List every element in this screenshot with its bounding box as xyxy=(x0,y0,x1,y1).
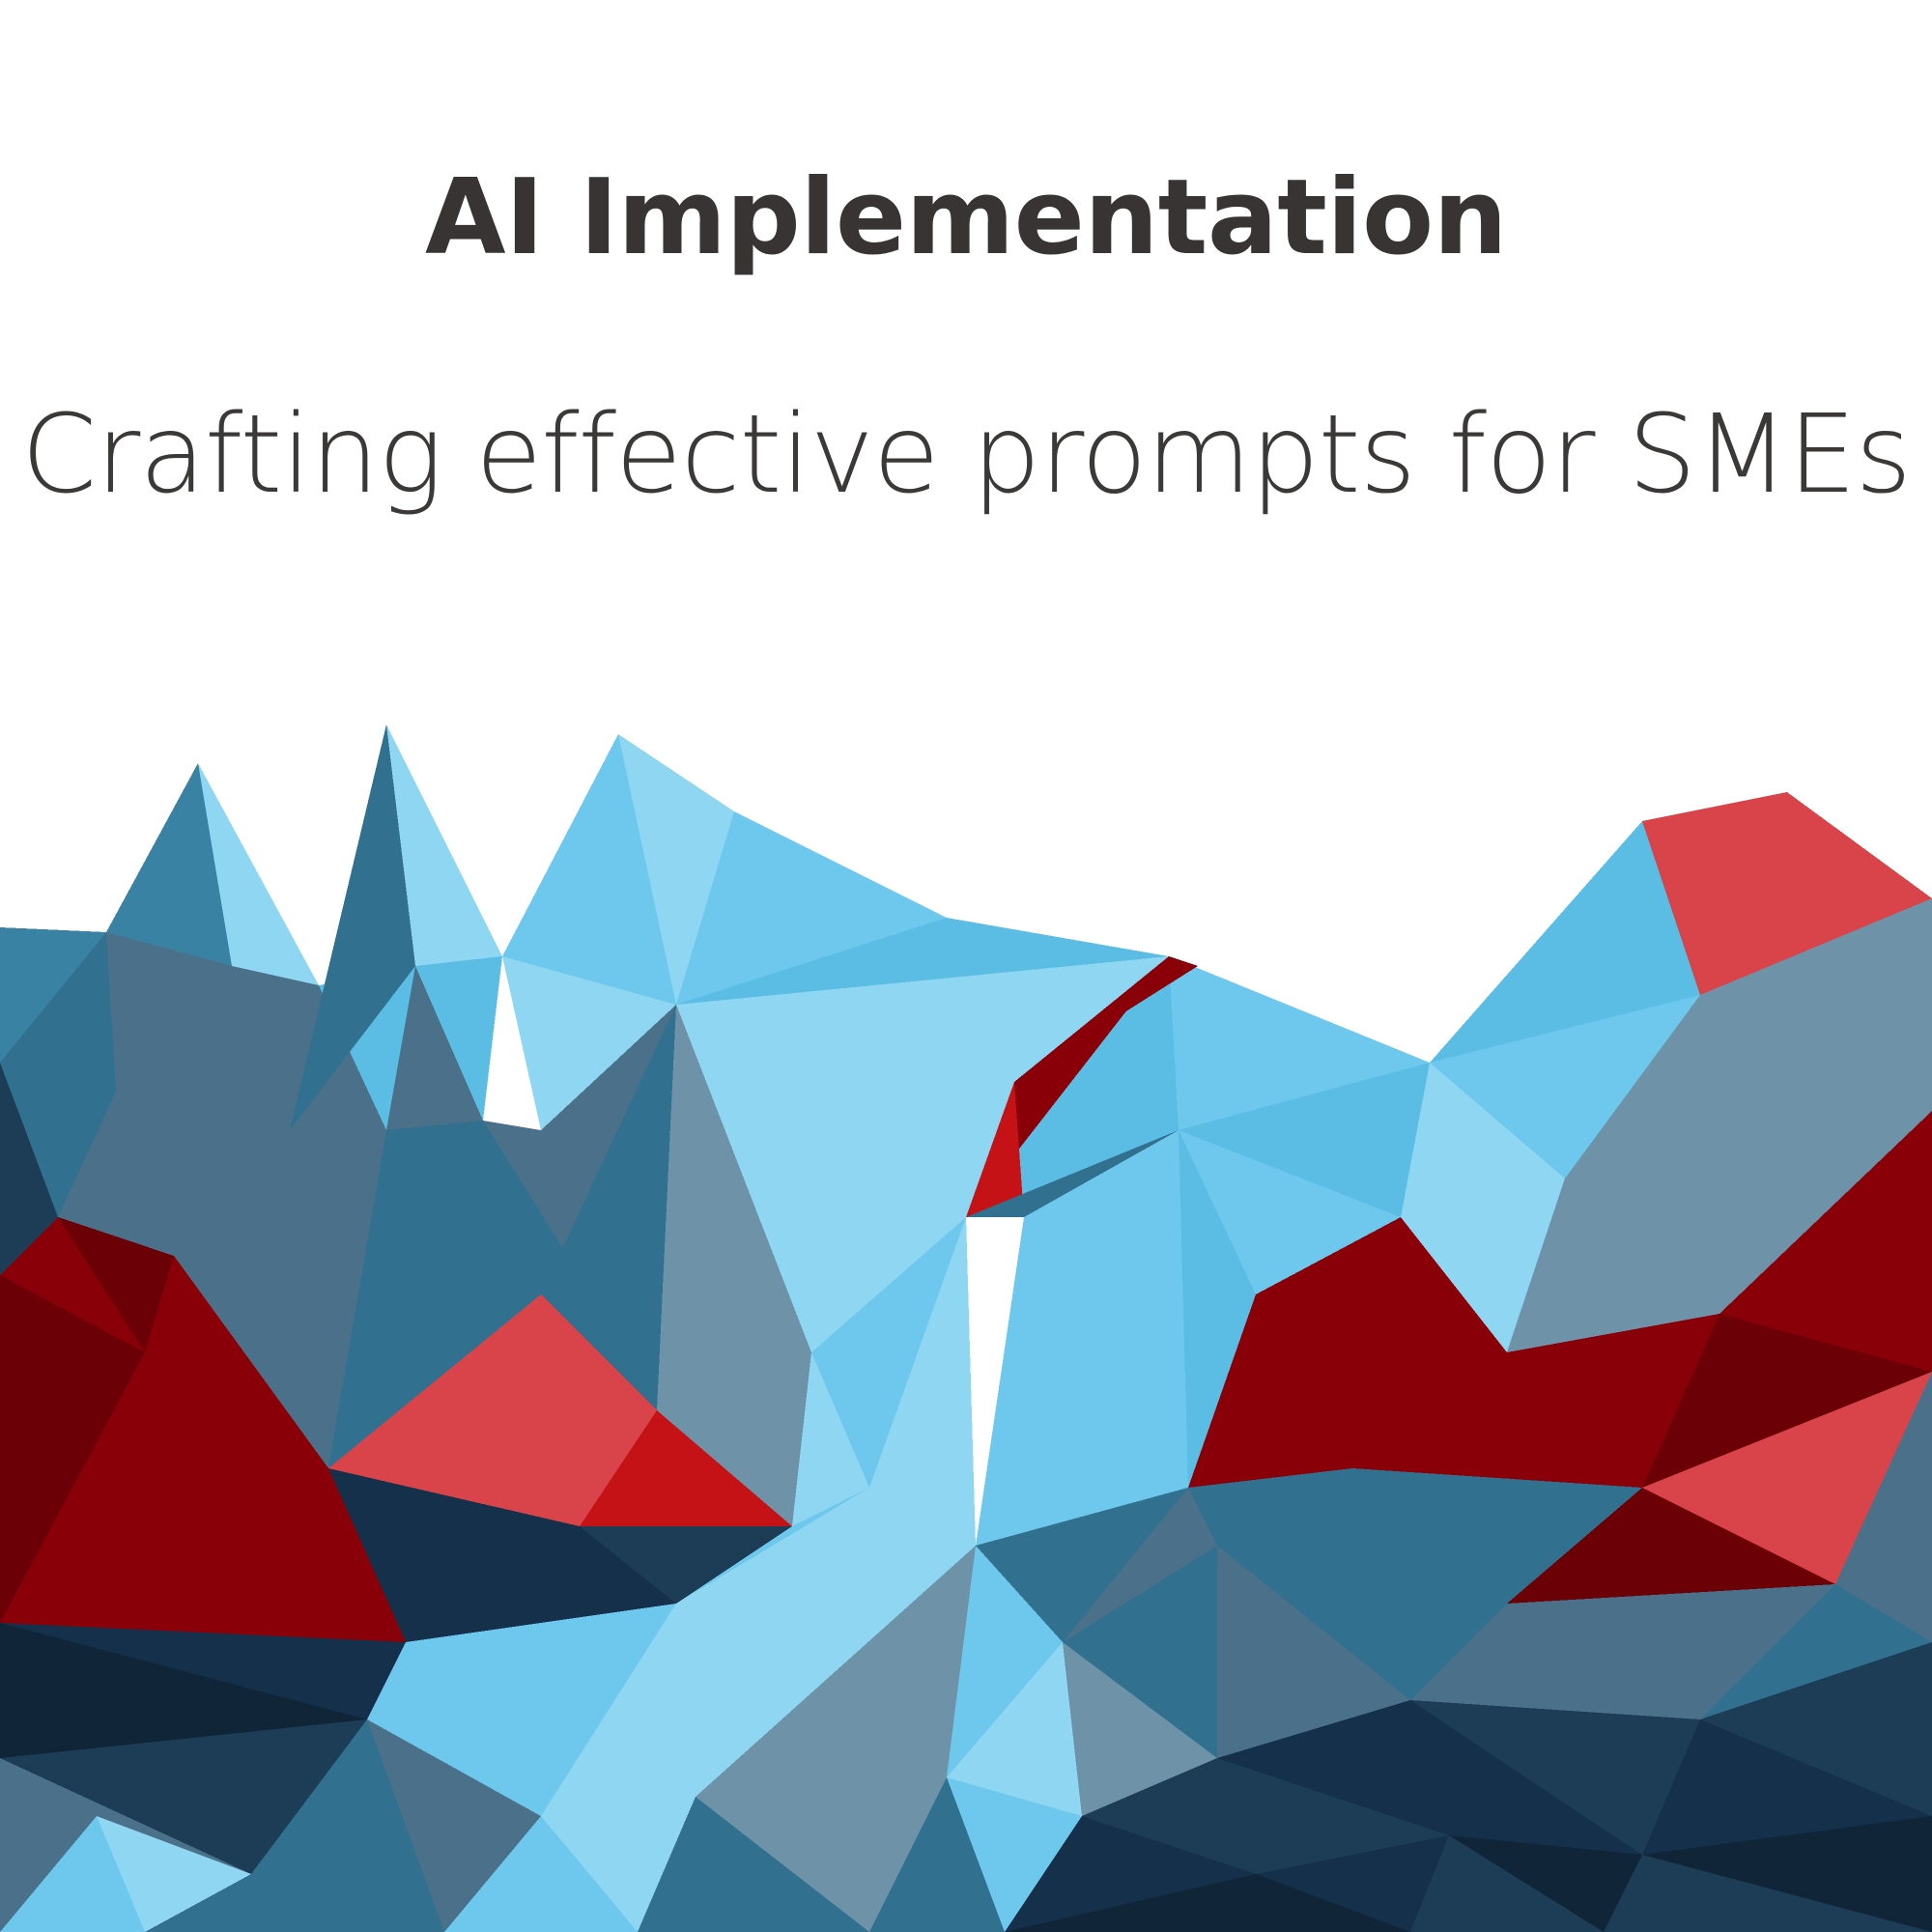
low-poly-mountain-graphic xyxy=(0,676,1932,1932)
slide-subtitle: Crafting effective prompts for SMEs xyxy=(0,275,1932,513)
slide-text-block: AI Implementation Crafting effective pro… xyxy=(0,0,1932,512)
polygon-group xyxy=(0,724,1932,1932)
page-title: AI Implementation xyxy=(0,0,1932,275)
title-slide: AI Implementation Crafting effective pro… xyxy=(0,0,1932,1932)
polygon-artwork-svg xyxy=(0,676,1932,1932)
